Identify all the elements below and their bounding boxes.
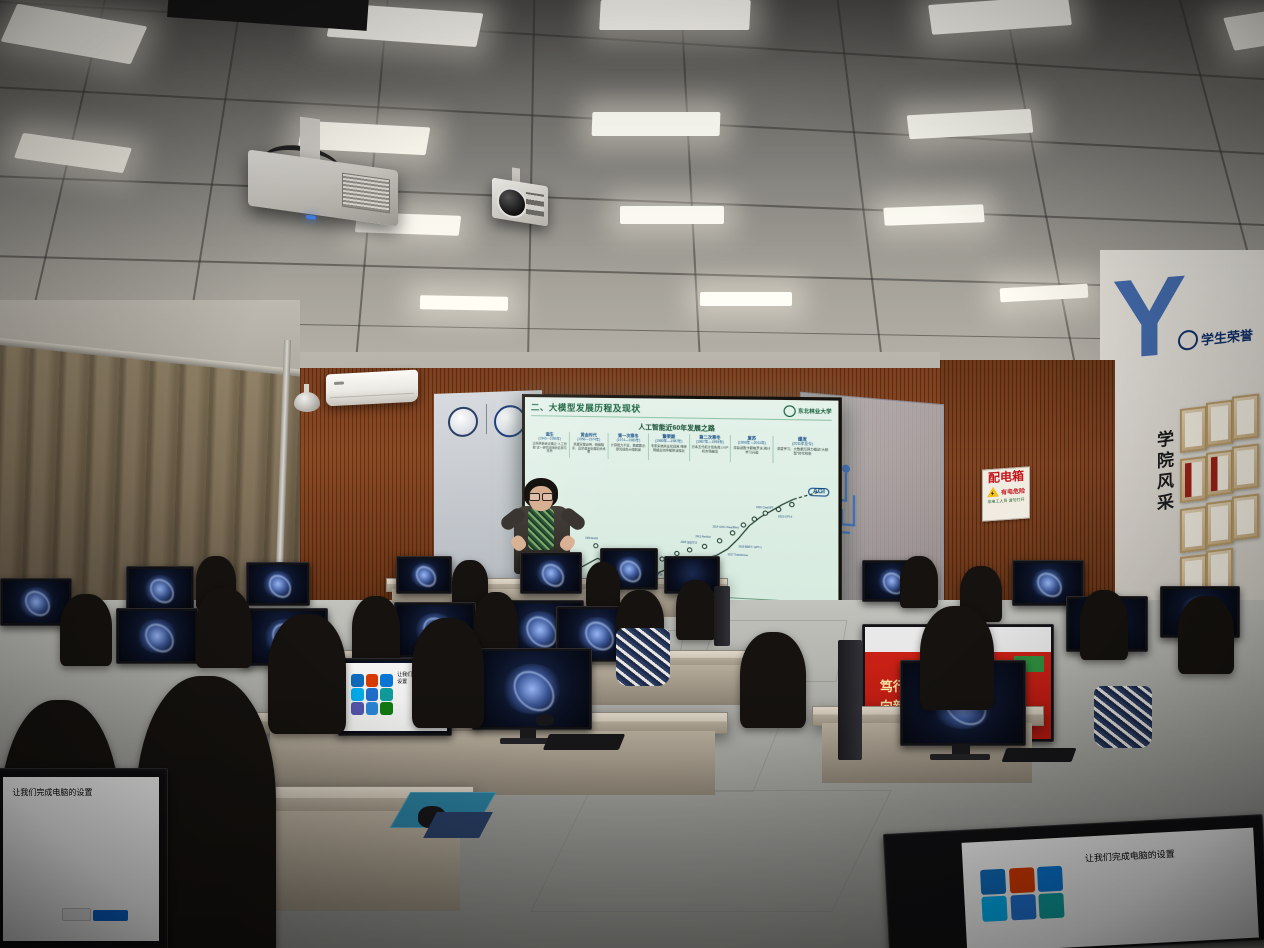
student (268, 614, 346, 734)
ceiling-camera-lens (497, 185, 527, 220)
setup-title: 让我们完成电脑的设置 (1084, 844, 1236, 865)
monitor-base (930, 754, 990, 760)
student (1080, 590, 1128, 660)
timeline-era-headers: 诞生 (1943—1956年) 达特茅斯会议确立"人工智能"这一研究领域的名称与… (531, 431, 832, 465)
app-icon-grid (980, 866, 1064, 920)
keyboard[interactable] (543, 734, 625, 750)
continue-button[interactable] (93, 910, 127, 921)
slide-title-text: 大模型发展历程及现状 (549, 402, 641, 413)
monitor (246, 562, 310, 606)
student (352, 596, 400, 666)
onedrive-icon (1037, 866, 1063, 892)
era-years: (1956—1974年) (571, 437, 607, 442)
classroom-photo: 配电箱 有电危险 非电工人员 请勿打开 Y 学生荣誉 学院风采 二、大模型发展历… (0, 0, 1264, 948)
monitor (396, 556, 452, 594)
teams-icon (351, 702, 364, 715)
backpack (1094, 686, 1152, 748)
electric-hazard-icon (987, 486, 999, 497)
ac-vent-line (330, 393, 414, 398)
windows-setup-screen: 让我们完成电脑的设置 (961, 827, 1258, 948)
award-plaque (1206, 400, 1233, 447)
backpack (616, 628, 670, 686)
skype-icon (982, 896, 1008, 922)
ceiling-light-panel (14, 133, 132, 173)
student (412, 618, 484, 728)
power-box-warning: 有电危险 (983, 484, 1029, 497)
timeline-era: 爆发 (2011年至今) 深度学习、大数据与算力推动"大模型"时代到来 (773, 436, 832, 465)
student (676, 580, 716, 640)
timeline-era: 诞生 (1943—1956年) 达特茅斯会议确立"人工智能"这一研究领域的名称与… (531, 431, 569, 458)
era-desc: 专家系统商业化应用,神经网络反向传播算法提出 (650, 445, 688, 453)
ceiling-light-panel (907, 109, 1034, 139)
era-desc: 日本五代机计划失败,LISP机市场崩溃 (691, 446, 729, 454)
camera-dome (294, 392, 320, 412)
monitor (116, 608, 198, 664)
projector-vent (342, 173, 390, 214)
timeline-era: 第二次寒冬 (1987年—1993年) 日本五代机计划失败,LISP机市场崩溃 (689, 434, 731, 462)
timeline-era: 复苏 (1993年—2011年) 深蓝战胜卡斯帕罗夫,统计学习兴起 (730, 435, 772, 463)
lecturer-scarf (528, 508, 554, 550)
lecturer-glasses-icon (529, 493, 553, 499)
ac-display (334, 381, 344, 385)
milestone-label: 1966 ELIZA (585, 537, 598, 541)
ceiling-light-panel (592, 112, 721, 136)
student (1178, 596, 1234, 674)
slide-section-number: 二、 (531, 402, 549, 412)
award-plaque (1232, 493, 1259, 540)
keyboard[interactable] (1001, 748, 1076, 762)
ceiling-light-panel (1000, 284, 1089, 303)
ceiling-light-panel (928, 0, 1072, 35)
office-icon (1009, 867, 1035, 893)
xbox-icon (380, 702, 393, 715)
timeline-era: 繁荣期 (1980年—1987年) 专家系统商业化应用,神经网络反向传播算法提出 (648, 433, 689, 461)
student-honors-label: 学生荣誉 (1201, 324, 1253, 348)
skype-icon (351, 688, 364, 701)
era-desc: 计算能力不足、数据匮乏,研究经费大幅削减 (610, 444, 647, 452)
milestone-label: 2012 AlexNet (695, 535, 710, 539)
award-plaque (1232, 393, 1259, 440)
setup-title: 让我们完成电脑的设置 (12, 787, 149, 798)
monitor-foreground-right: 让我们完成电脑的设置 (883, 814, 1264, 948)
windows-setup-screen: 让我们完成电脑的设置 (3, 777, 159, 941)
award-plaque (1180, 456, 1207, 503)
ceiling-light-panel (599, 0, 751, 30)
ceiling-light-panel (1223, 0, 1264, 51)
ceiling-light-panel (883, 204, 985, 225)
milestone-label: 2023 GPT-4 (778, 515, 792, 519)
power-box-footer: 非电工人员 请勿打开 (983, 496, 1029, 505)
milestone-label: 2006 深度学习 (681, 541, 698, 545)
era-desc: 深度学习、大数据与算力推动"大模型"时代到来 (775, 447, 831, 456)
monitor-foreground-left: 让我们完成电脑的设置 (0, 768, 168, 948)
edge-icon (1038, 893, 1064, 919)
era-years: (1943—1956年) (532, 436, 568, 441)
ceiling-light-panel (700, 292, 792, 306)
accreditation-logo-1 (448, 406, 478, 437)
era-desc: 达特茅斯会议确立"人工智能"这一研究领域的名称与任务 (532, 442, 568, 454)
outlook-icon (351, 674, 364, 687)
monitor (520, 552, 582, 594)
award-plaque (1180, 406, 1207, 453)
honors-emblem-icon (1178, 329, 1198, 351)
app-icon-grid (351, 674, 393, 712)
ceiling-device-grille (526, 192, 544, 217)
student (196, 588, 252, 668)
monitor (126, 566, 194, 612)
award-plaque (1232, 443, 1259, 490)
award-plaque (1180, 506, 1207, 553)
outlook-icon (980, 869, 1006, 895)
logo-divider (486, 404, 487, 434)
edge-icon (380, 688, 393, 701)
pc-tower (838, 640, 862, 760)
monitor (472, 648, 592, 730)
era-desc: 深蓝战胜卡斯帕罗夫,统计学习兴起 (732, 447, 771, 455)
air-conditioner (326, 370, 418, 407)
student (60, 594, 112, 666)
university-logo: 东北林业大学 (784, 405, 832, 417)
award-plaque-wall (1180, 395, 1264, 605)
award-plaque (1206, 500, 1233, 547)
ceiling-light-panel (420, 295, 508, 311)
ceiling-beam (167, 0, 369, 31)
skip-button[interactable] (62, 908, 91, 921)
era-years: (1987年—1993年) (691, 439, 729, 444)
power-box-title: 配电箱 (983, 469, 1029, 484)
timeline-era: 黄金时代 (1956—1974年) 机器定理证明、跳棋程序、自然语言处理初步成果 (569, 432, 608, 459)
office-icon (366, 674, 379, 687)
student (900, 556, 938, 608)
onedrive-icon (380, 674, 393, 687)
timeline-era: 第一次寒冬 (1974—1980年) 计算能力不足、数据匮乏,研究经费大幅削减 (608, 433, 648, 461)
student (586, 562, 620, 608)
era-desc: 机器定理证明、跳棋程序、自然语言处理初步成果 (571, 443, 607, 455)
student (740, 632, 806, 728)
wall-letter-y-decal: Y (1112, 259, 1182, 385)
milestone-label: 2022 ChatGPT (756, 506, 774, 510)
ceiling-light-panel (1, 4, 148, 65)
slide-title: 二、大模型发展历程及现状 (531, 401, 641, 415)
student (920, 606, 994, 710)
era-years: (1974—1980年) (610, 438, 647, 443)
power-box-warning-text: 有电危险 (1001, 485, 1025, 496)
power-distribution-box-sign: 配电箱 有电危险 非电工人员 请勿打开 (982, 466, 1030, 521)
store-icon (366, 702, 379, 715)
university-crest-icon (784, 405, 796, 417)
defender-icon (1010, 895, 1036, 921)
dome-security-camera (294, 384, 320, 412)
wall-vertical-text: 学院风采 (1156, 429, 1176, 515)
mouse[interactable] (536, 714, 554, 726)
era-years: (1993年—2011年) (732, 440, 771, 445)
award-plaque (1206, 450, 1233, 497)
defender-icon (366, 688, 379, 701)
pc-tower (714, 586, 730, 646)
era-years: (1980年—1987年) (650, 439, 688, 444)
agi-label: AGI (808, 488, 829, 497)
university-name: 东北林业大学 (798, 407, 832, 415)
ceiling-light-panel (620, 206, 724, 224)
